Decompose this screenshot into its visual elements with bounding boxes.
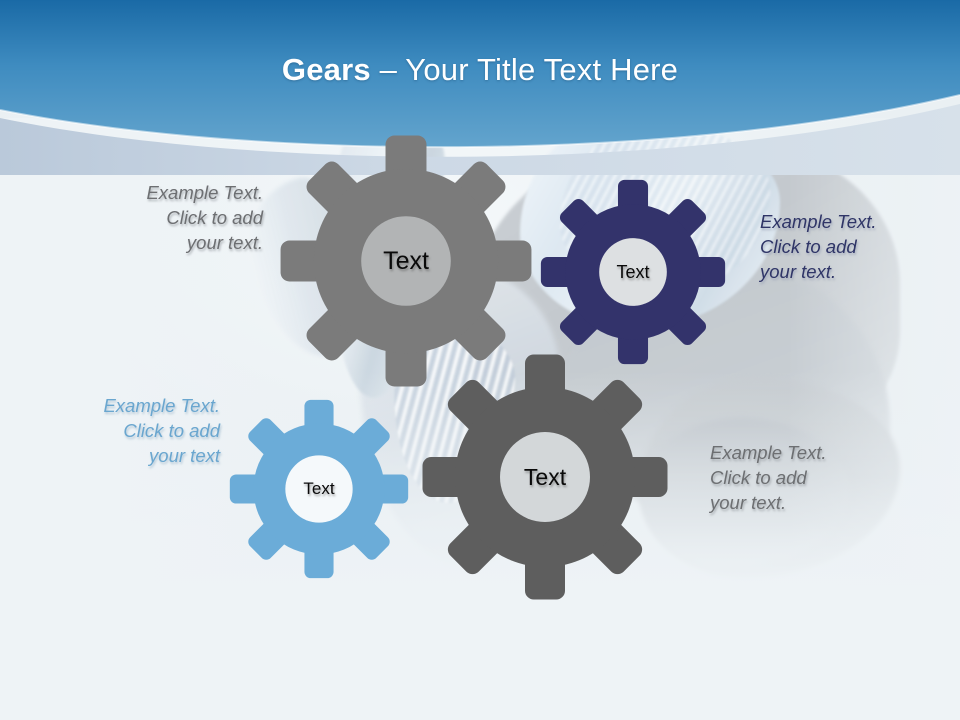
gear-gray-mid[interactable]: Text bbox=[420, 352, 670, 602]
callout-top-right[interactable]: Example Text. Click to add your text. bbox=[760, 209, 945, 284]
gear-blue-hub bbox=[285, 455, 352, 522]
page-title: Gears – Your Title Text Here bbox=[0, 50, 960, 90]
gear-navy[interactable]: Text bbox=[539, 178, 727, 366]
title-bold-part: Gears bbox=[282, 52, 371, 87]
gear-blue[interactable]: Text bbox=[228, 398, 410, 580]
callout-top-left[interactable]: Example Text. Click to add your text. bbox=[88, 180, 263, 255]
gear-gray-large[interactable]: Text bbox=[278, 133, 534, 389]
gear-navy-hub bbox=[599, 238, 667, 306]
gear-gray-mid-hub bbox=[500, 432, 590, 522]
title-rest-part: – Your Title Text Here bbox=[371, 52, 678, 87]
slide-canvas: Gears – Your Title Text Here bbox=[0, 0, 960, 720]
callout-bottom-right[interactable]: Example Text. Click to add your text. bbox=[710, 440, 900, 515]
callout-bottom-left[interactable]: Example Text. Click to add your text bbox=[45, 393, 220, 468]
gear-gray-large-hub bbox=[361, 216, 451, 306]
